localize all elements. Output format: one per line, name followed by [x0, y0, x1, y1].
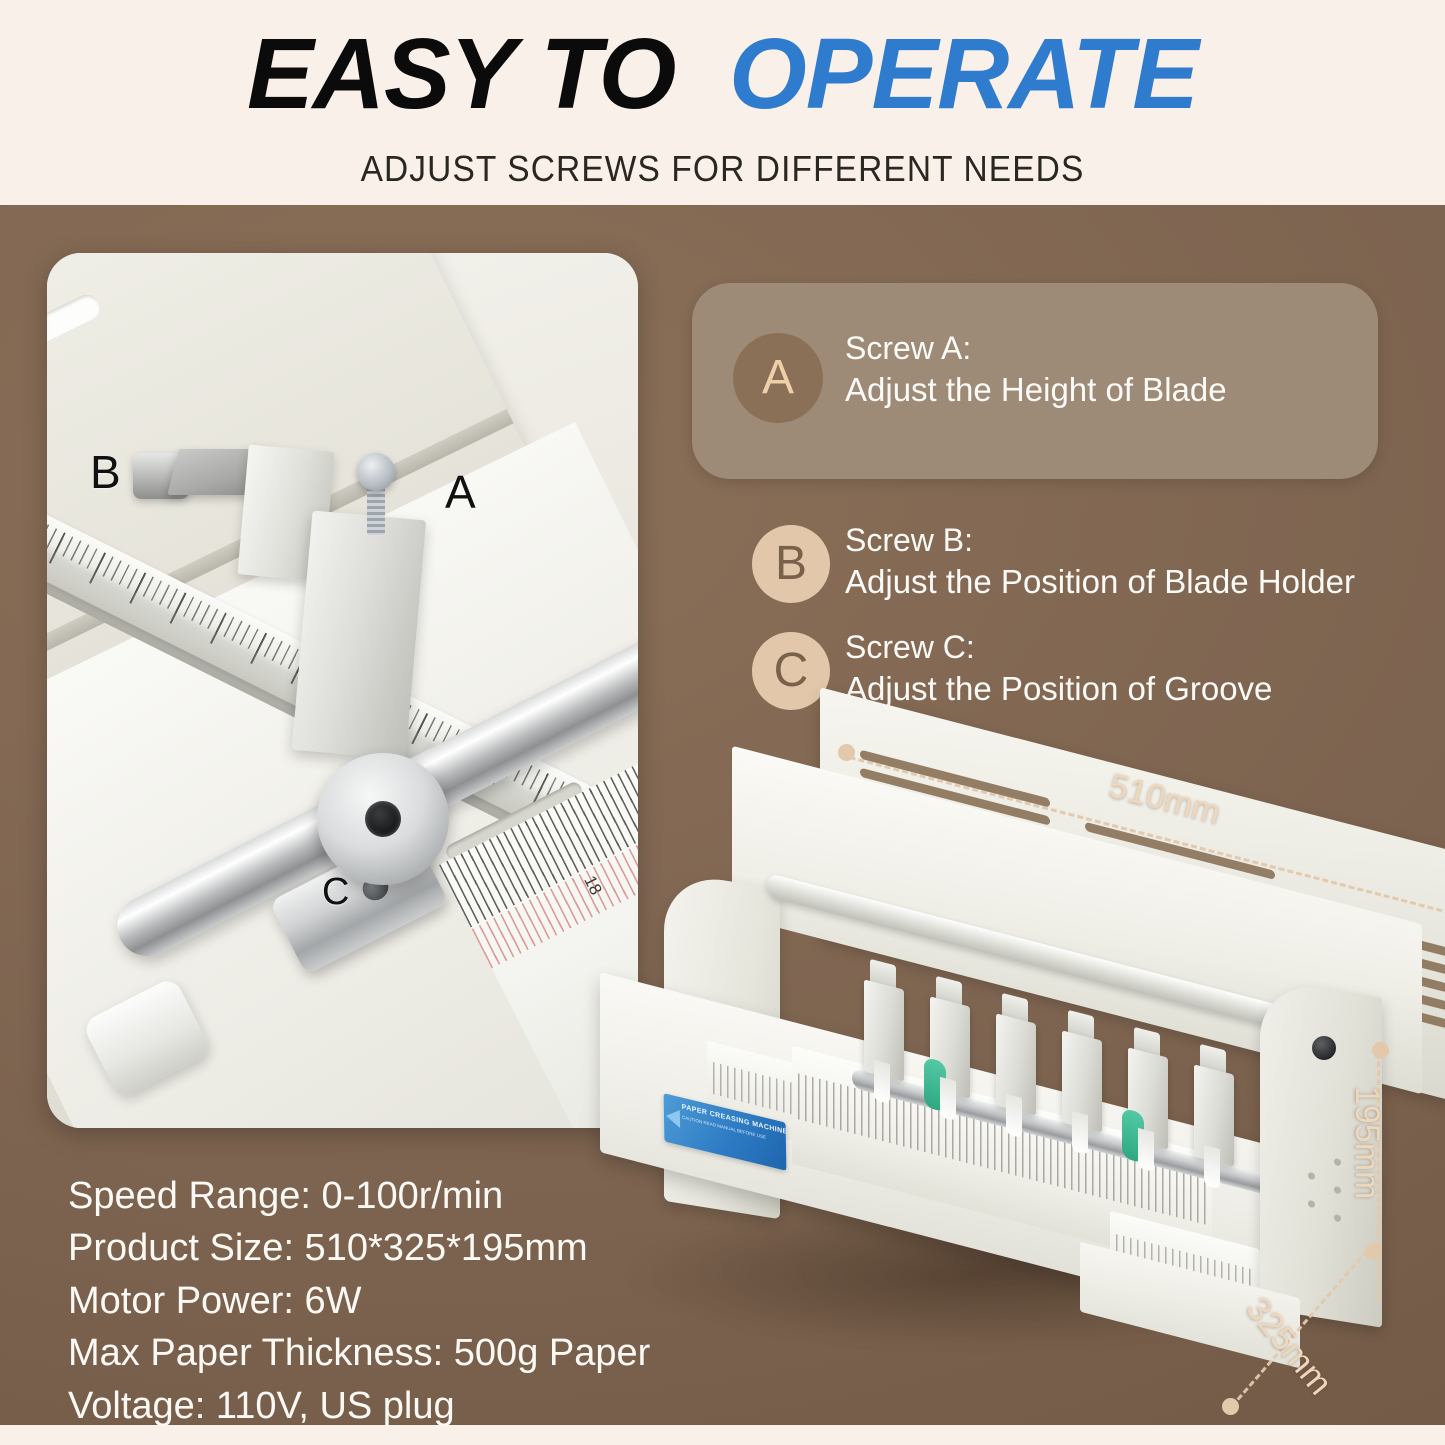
creasing-wheel [317, 753, 449, 885]
dim-dot-right-top [1372, 1042, 1389, 1059]
blade-holder-3 [996, 1013, 1040, 1134]
blade-holder-2 [930, 996, 974, 1117]
screw-a-head [357, 453, 395, 491]
blade-holder-1 [864, 979, 908, 1100]
blade-holder-bracket [292, 510, 426, 759]
dim-label-height: 195mm [1347, 1086, 1386, 1199]
infographic-page: EASY TO OPERATE ADJUST SCREWS FOR DIFFER… [0, 0, 1445, 1445]
spec-product-size: Product Size: 510*325*195mm [68, 1222, 650, 1274]
blade-holder-5 [1128, 1047, 1172, 1168]
spec-motor-power: Motor Power: 6W [68, 1275, 650, 1327]
plate-slot [47, 290, 104, 392]
detail-photo: 18 20 B A C [47, 253, 638, 1128]
page-subtitle: ADJUST SCREWS FOR DIFFERENT NEEDS [51, 148, 1395, 190]
side-adjust-knob[interactable] [1312, 1036, 1336, 1060]
spec-voltage: Voltage: 110V, US plug [68, 1380, 650, 1432]
wheel-bearing [365, 801, 401, 837]
badge-c: C [752, 632, 830, 710]
screw-a-shaft [367, 485, 385, 535]
badge-b: B [752, 525, 830, 603]
spec-max-paper-thickness: Max Paper Thickness: 500g Paper [68, 1327, 650, 1379]
photo-label-a: A [445, 469, 476, 515]
callout-a-line1: Screw A: [845, 328, 1227, 369]
blade-holder-4 [1062, 1030, 1106, 1151]
sticker-arrow-icon [666, 1107, 680, 1128]
callout-b-text: Screw B: Adjust the Position of Blade Ho… [845, 520, 1355, 603]
callout-a-text: Screw A: Adjust the Height of Blade [845, 328, 1227, 411]
callout-c-text: Screw C: Adjust the Position of Groove [845, 627, 1272, 710]
callout-c-line1: Screw C: [845, 627, 1272, 668]
header-band: EASY TO OPERATE ADJUST SCREWS FOR DIFFER… [0, 0, 1445, 205]
title-part-dark: EASY TO [247, 18, 675, 130]
blade-holder-6 [1194, 1064, 1238, 1185]
dim-dot-bottom [1222, 1398, 1239, 1415]
photo-label-c: C [322, 873, 349, 911]
product-render: PAPER CREASING MACHINE CAUTION READ MANU… [612, 730, 1402, 1390]
title-part-blue: OPERATE [729, 18, 1198, 130]
badge-a: A [733, 333, 823, 423]
page-title: EASY TO OPERATE [0, 22, 1445, 127]
spec-list: Speed Range: 0-100r/min Product Size: 51… [68, 1170, 650, 1432]
photo-label-b: B [90, 449, 121, 495]
spec-speed-range: Speed Range: 0-100r/min [68, 1170, 650, 1222]
callout-c-line2: Adjust the Position of Groove [845, 668, 1272, 710]
callout-b-line1: Screw B: [845, 520, 1355, 561]
callout-a-line2: Adjust the Height of Blade [845, 369, 1227, 411]
callout-b-line2: Adjust the Position of Blade Holder [845, 561, 1355, 603]
